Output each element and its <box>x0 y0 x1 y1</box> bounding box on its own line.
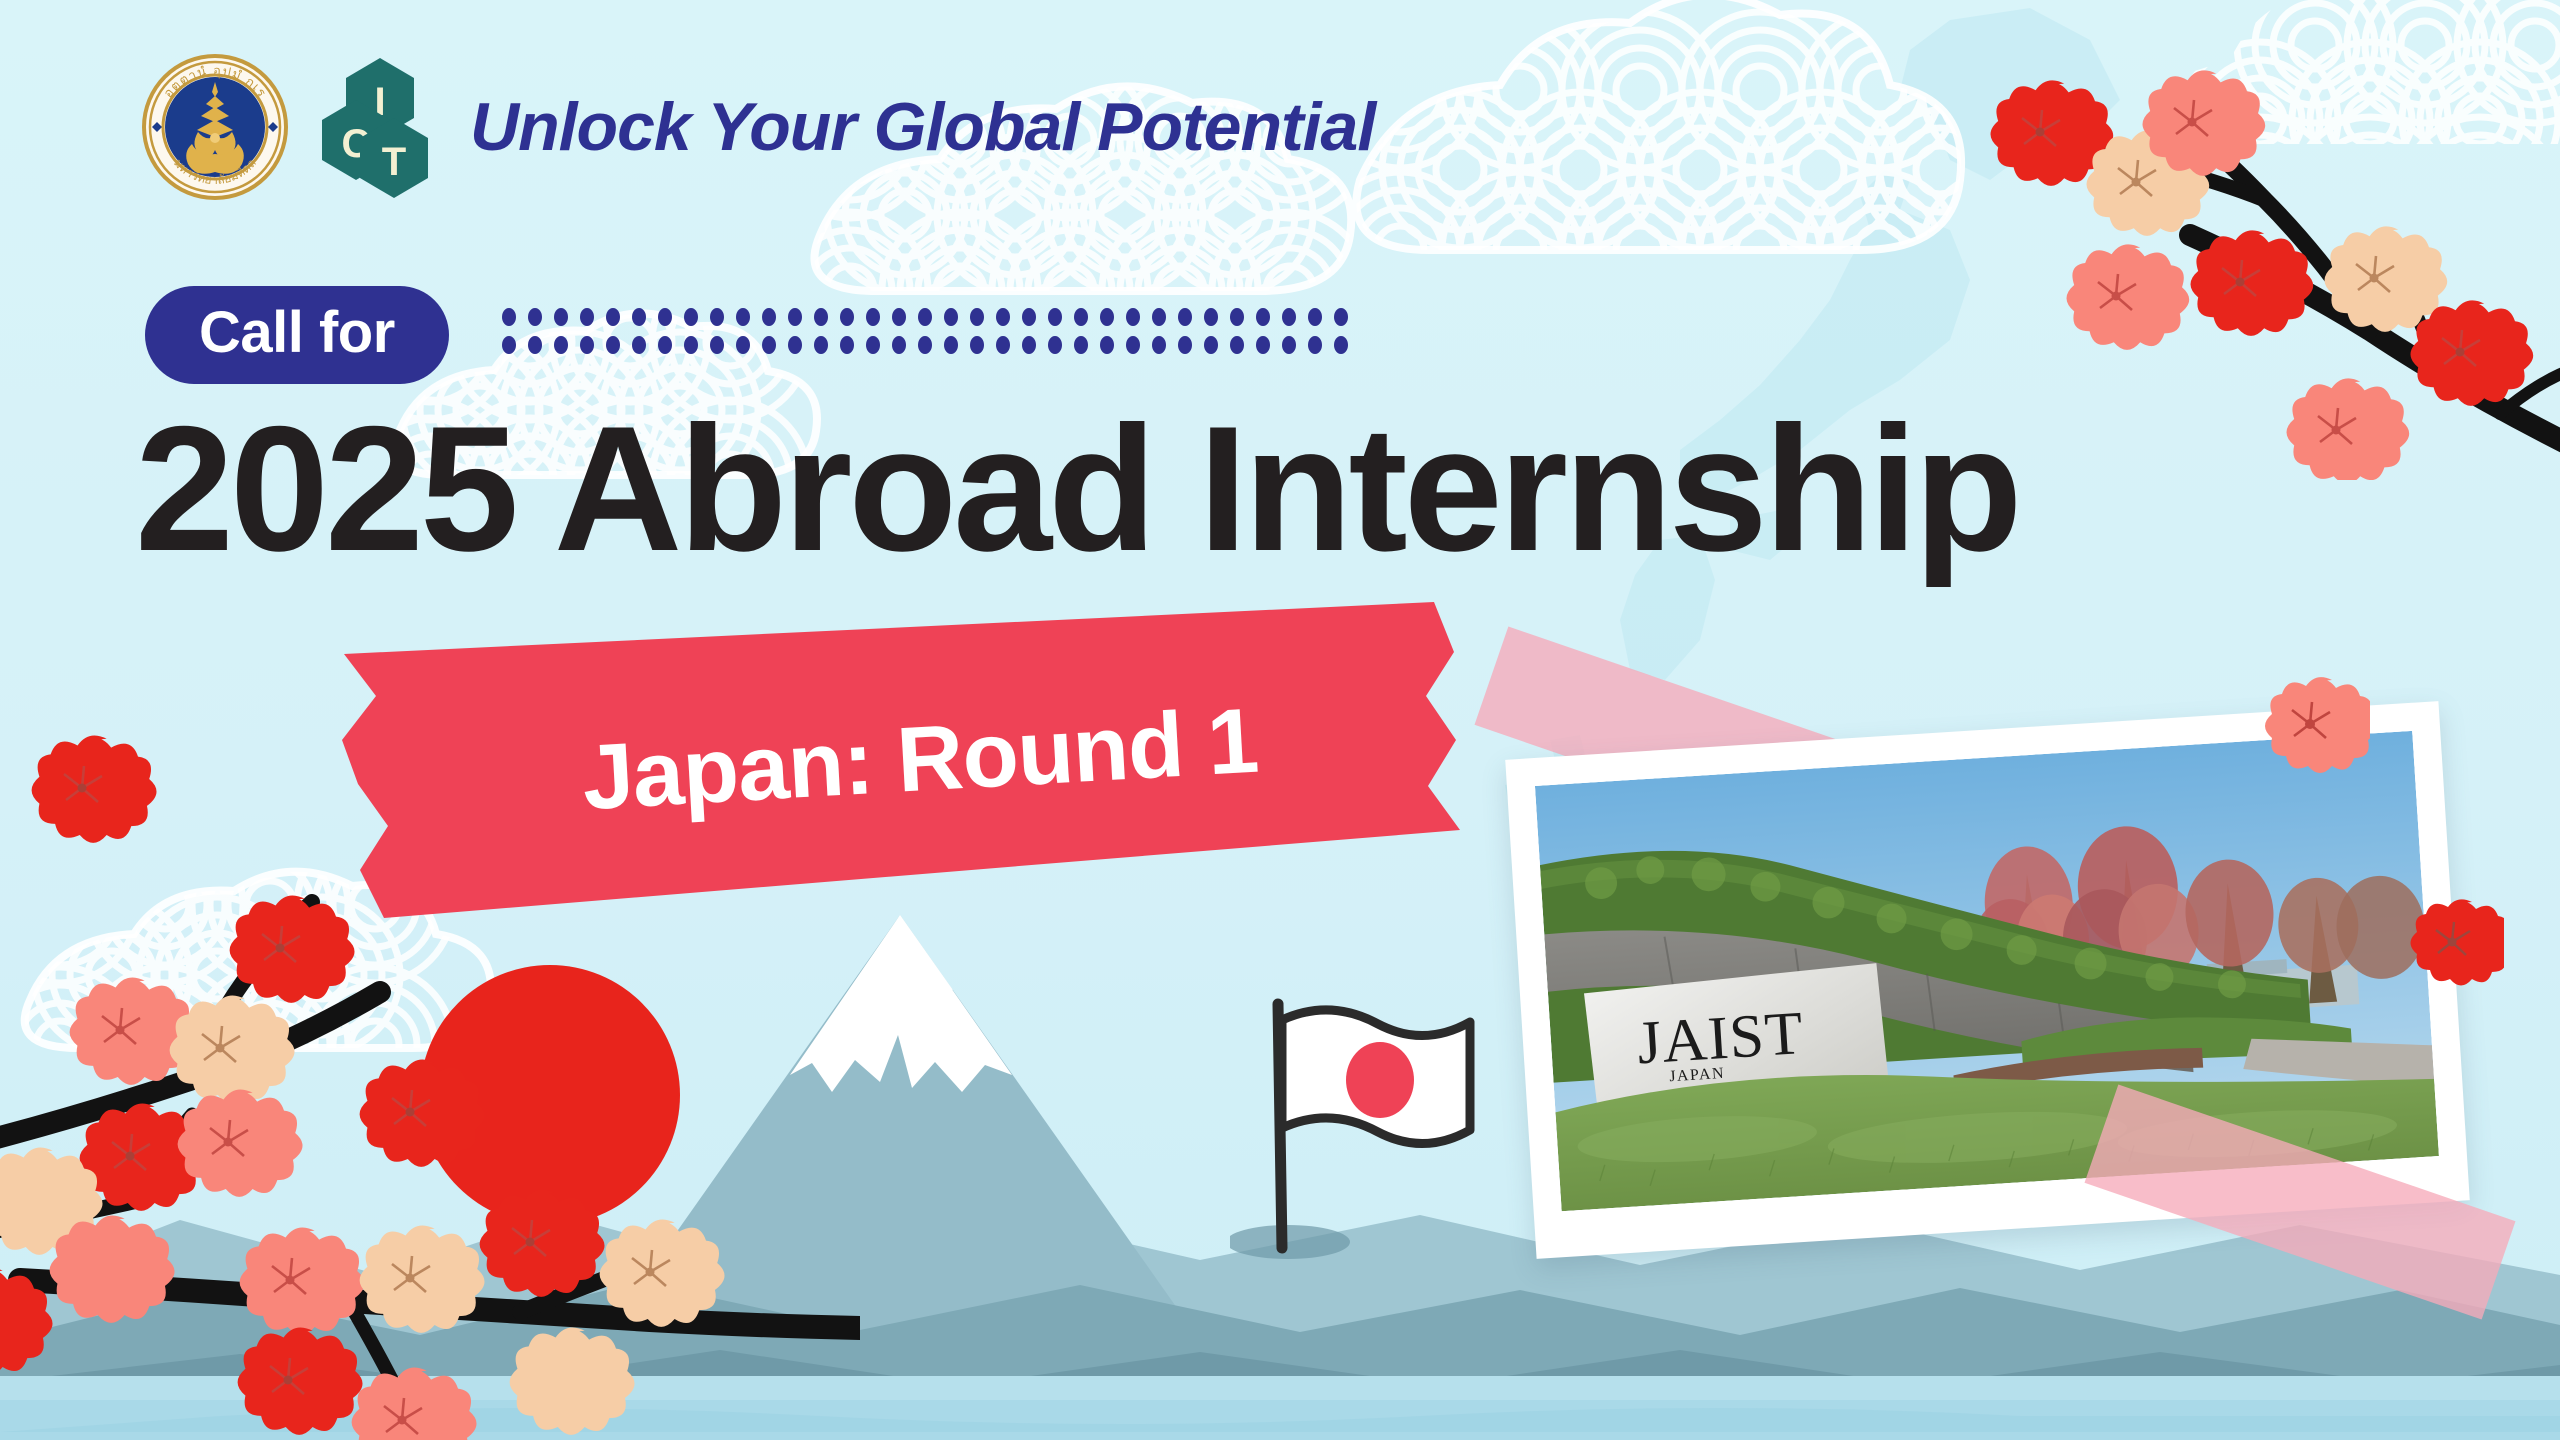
ribbon-label: Japan: Round 1 <box>322 568 1498 952</box>
ict-hexagon-logo-icon: I C T <box>318 52 430 202</box>
mahidol-seal-icon: อตฺตานํ อุปมํ กเร มหาวิทยาลัยมหิดล <box>140 52 290 202</box>
header-row: อตฺตานํ อุปมํ กเร มหาวิทยาลัยมหิดล <box>140 52 1375 202</box>
jaist-campus-photo: JAIST JAPAN ADVANCED INSTITUTE OF SCIENC… <box>1535 731 2439 1211</box>
tagline-text: Unlock Your Global Potential <box>470 88 1375 166</box>
jaist-photo-card: JAIST JAPAN ADVANCED INSTITUTE OF SCIENC… <box>1490 700 2500 1260</box>
japan-flag-icon <box>1230 980 1490 1260</box>
sakura-flower-photo-right <box>2400 890 2504 994</box>
page-title: 2025 Abroad Internship <box>135 400 2019 578</box>
jaist-sign-line2: JAPAN <box>1669 1065 1726 1085</box>
ict-letter-t: T <box>382 140 406 184</box>
dot-divider <box>501 307 1381 363</box>
round-ribbon: Japan: Round 1 <box>330 600 1490 920</box>
call-for-row: Call for <box>145 286 1381 384</box>
sakura-branch-top-right <box>1940 0 2560 480</box>
sakura-flower-photo-top <box>2250 664 2370 784</box>
banner-canvas: อตฺตานํ อุปมํ กเร มหาวิทยาลัยมหิดล <box>0 0 2560 1440</box>
call-for-badge: Call for <box>145 286 449 384</box>
